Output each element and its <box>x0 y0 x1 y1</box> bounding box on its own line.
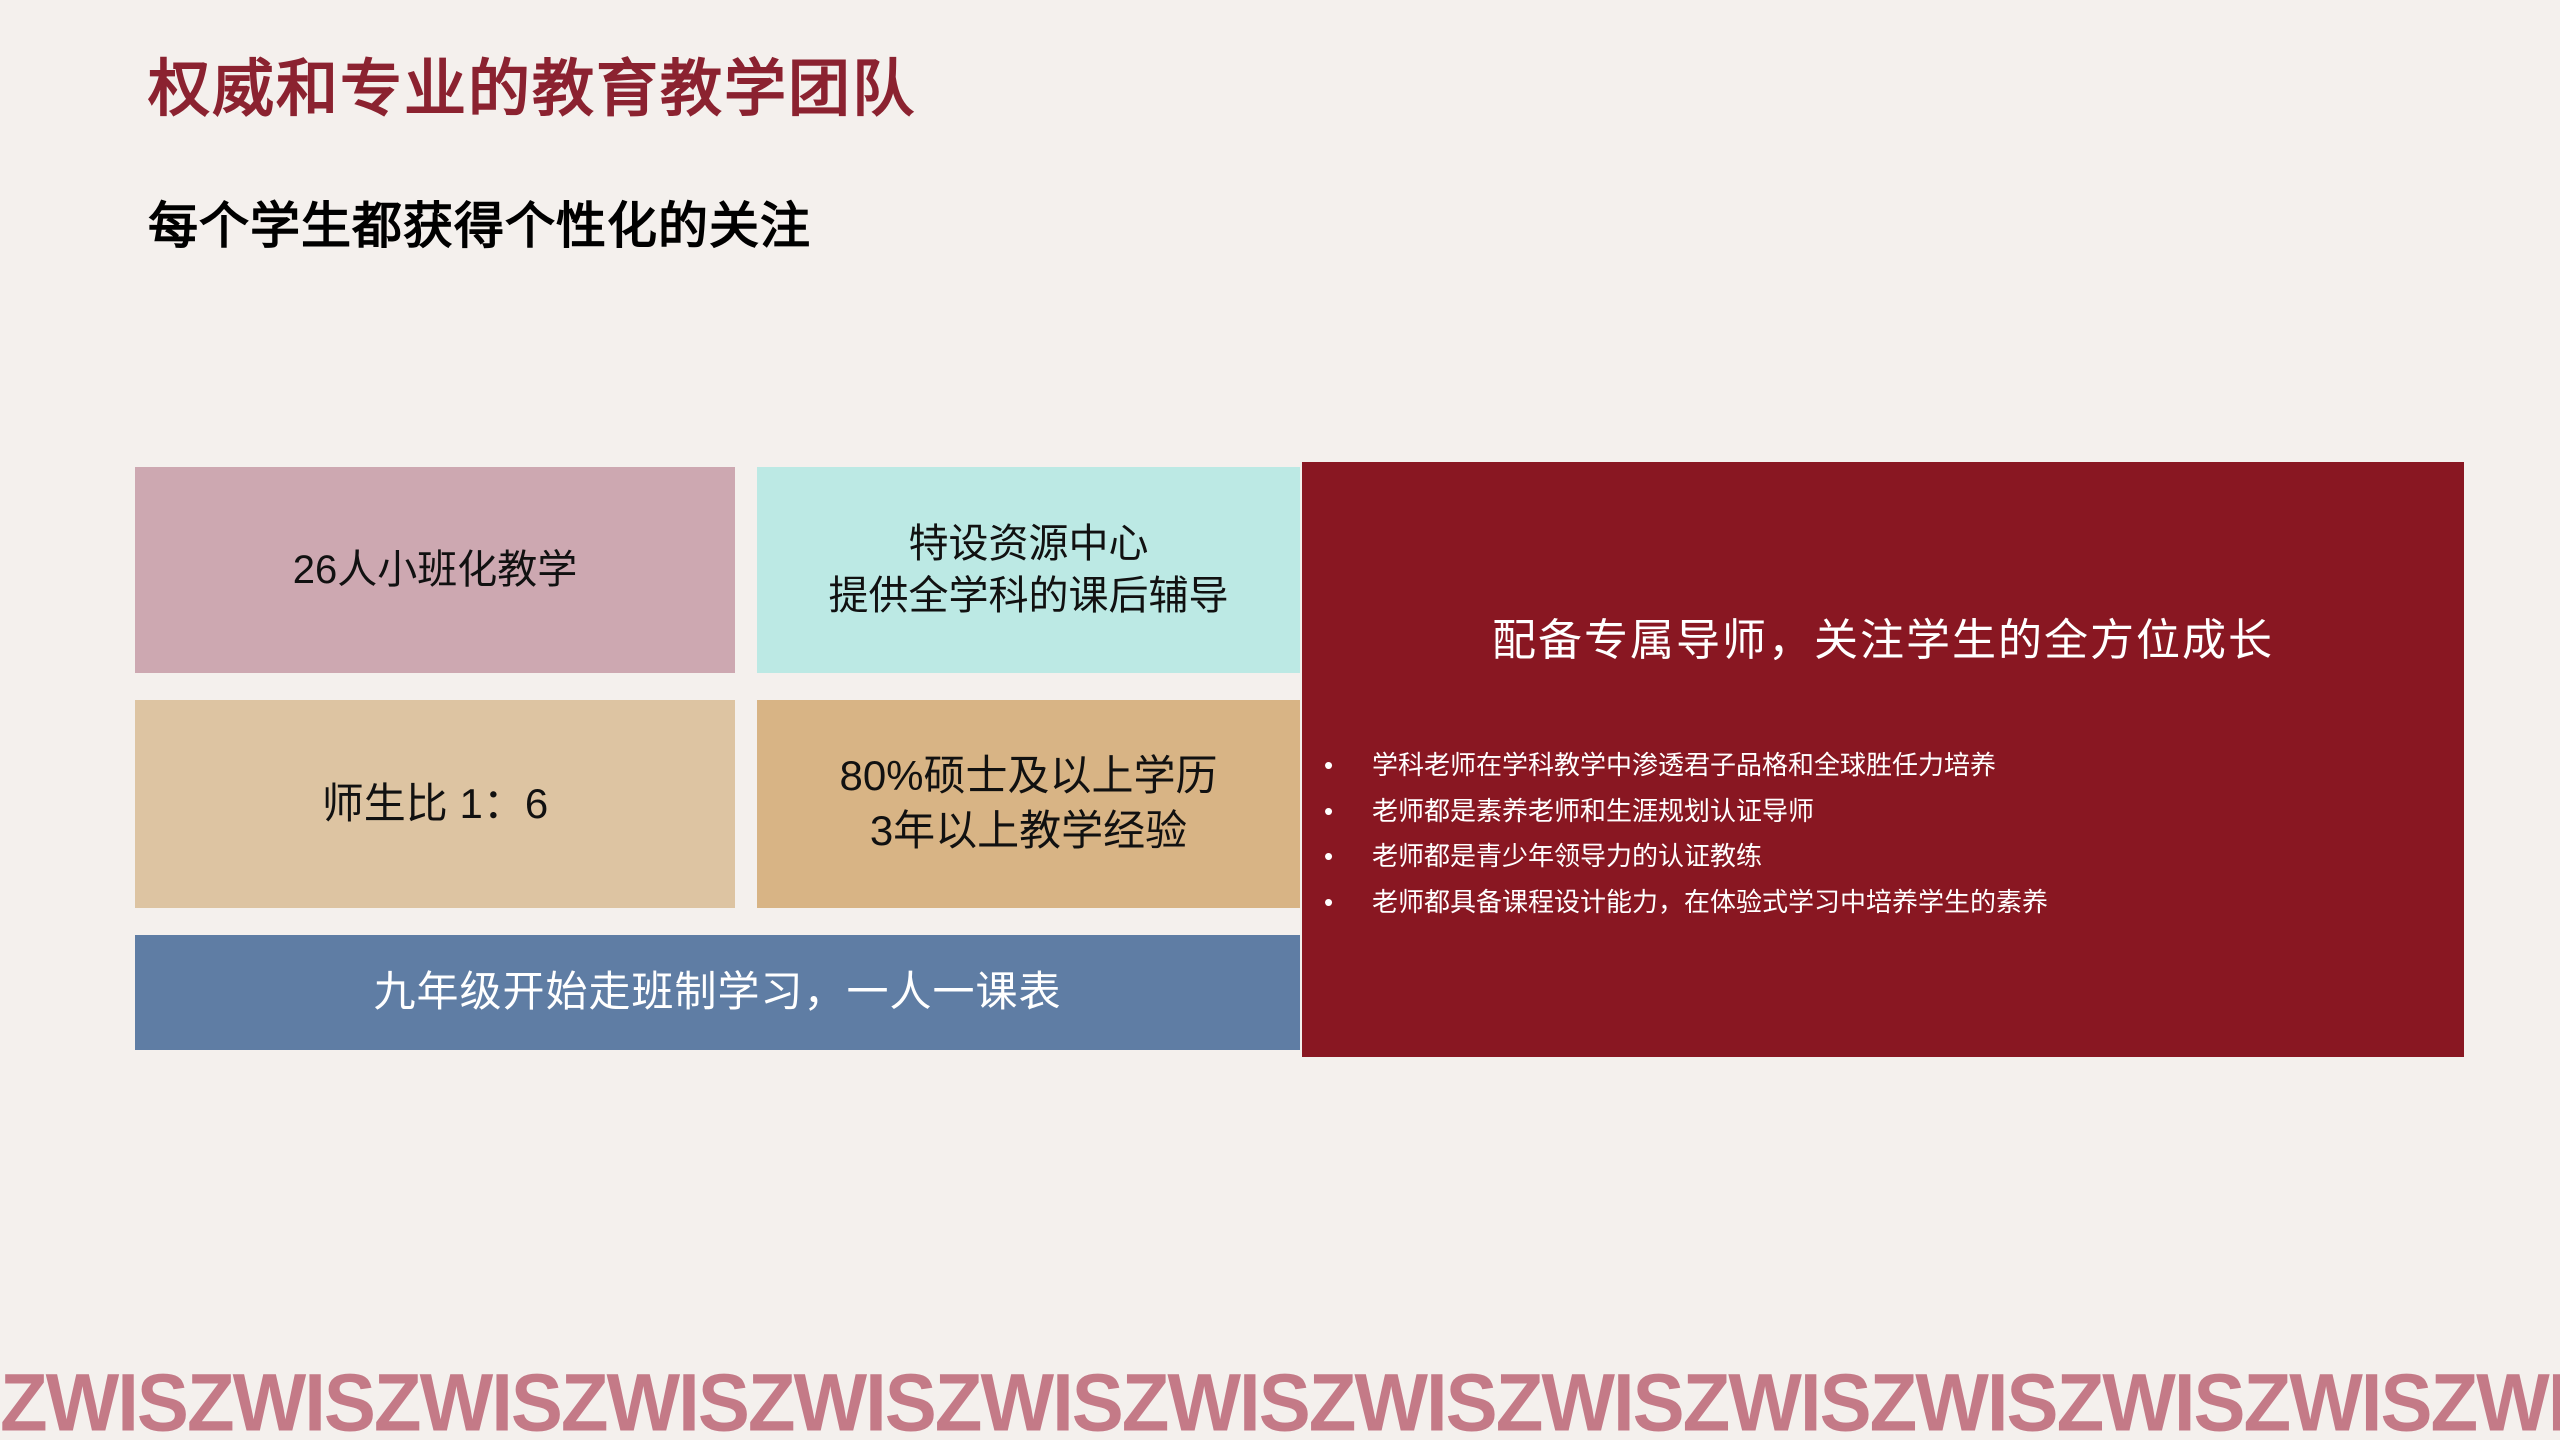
list-item: • 老师都是素养老师和生涯规划认证导师 <box>1302 793 2464 831</box>
bullet-dot-icon: • <box>1302 838 1372 876</box>
bullet-dot-icon: • <box>1302 747 1372 785</box>
mentor-panel-heading: 配备专属导师，关注学生的全方位成长 <box>1302 604 2464 668</box>
list-item-label: 老师都是素养老师和生涯规划认证导师 <box>1372 793 2464 831</box>
feature-tile-schedule: 九年级开始走班制学习，一人一课表 <box>135 935 1300 1050</box>
list-item: • 学科老师在学科教学中渗透君子品格和全球胜任力培养 <box>1302 747 2464 785</box>
list-item-label: 老师都具备课程设计能力，在体验式学习中培养学生的素养 <box>1372 884 2464 922</box>
watermark-label: ZWISZWISZWISZWISZWISZWISZWISZWISZWISZWIS… <box>0 1364 2560 1440</box>
bullet-dot-icon: • <box>1302 884 1372 922</box>
list-item: • 老师都具备课程设计能力，在体验式学习中培养学生的素养 <box>1302 884 2464 922</box>
list-item: • 老师都是青少年领导力的认证教练 <box>1302 838 2464 876</box>
list-item-label: 学科老师在学科教学中渗透君子品格和全球胜任力培养 <box>1372 747 2464 785</box>
feature-tile-degree-experience: 80%硕士及以上学历 3年以上教学经验 <box>757 700 1300 908</box>
bullet-dot-icon: • <box>1302 793 1372 831</box>
feature-tile-teacher-student-ratio: 师生比 1：6 <box>135 700 735 908</box>
list-item-label: 老师都是青少年领导力的认证教练 <box>1372 838 2464 876</box>
watermark-strip: ZWISZWISZWISZWISZWISZWISZWISZWISZWISZWIS… <box>0 1364 2560 1440</box>
page-title: 权威和专业的教育教学团队 <box>148 54 916 127</box>
page-subtitle: 每个学生都获得个性化的关注 <box>148 196 811 256</box>
mentor-bullet-list: • 学科老师在学科教学中渗透君子品格和全球胜任力培养 • 老师都是素养老师和生涯… <box>1302 747 2464 930</box>
slide-canvas: 权威和专业的教育教学团队 每个学生都获得个性化的关注 26人小班化教学 特设资源… <box>0 0 2560 1440</box>
feature-tile-resource-center: 特设资源中心 提供全学科的课后辅导 <box>757 467 1300 673</box>
feature-tile-class-size: 26人小班化教学 <box>135 467 735 673</box>
mentor-panel: 配备专属导师，关注学生的全方位成长 • 学科老师在学科教学中渗透君子品格和全球胜… <box>1302 462 2464 1057</box>
